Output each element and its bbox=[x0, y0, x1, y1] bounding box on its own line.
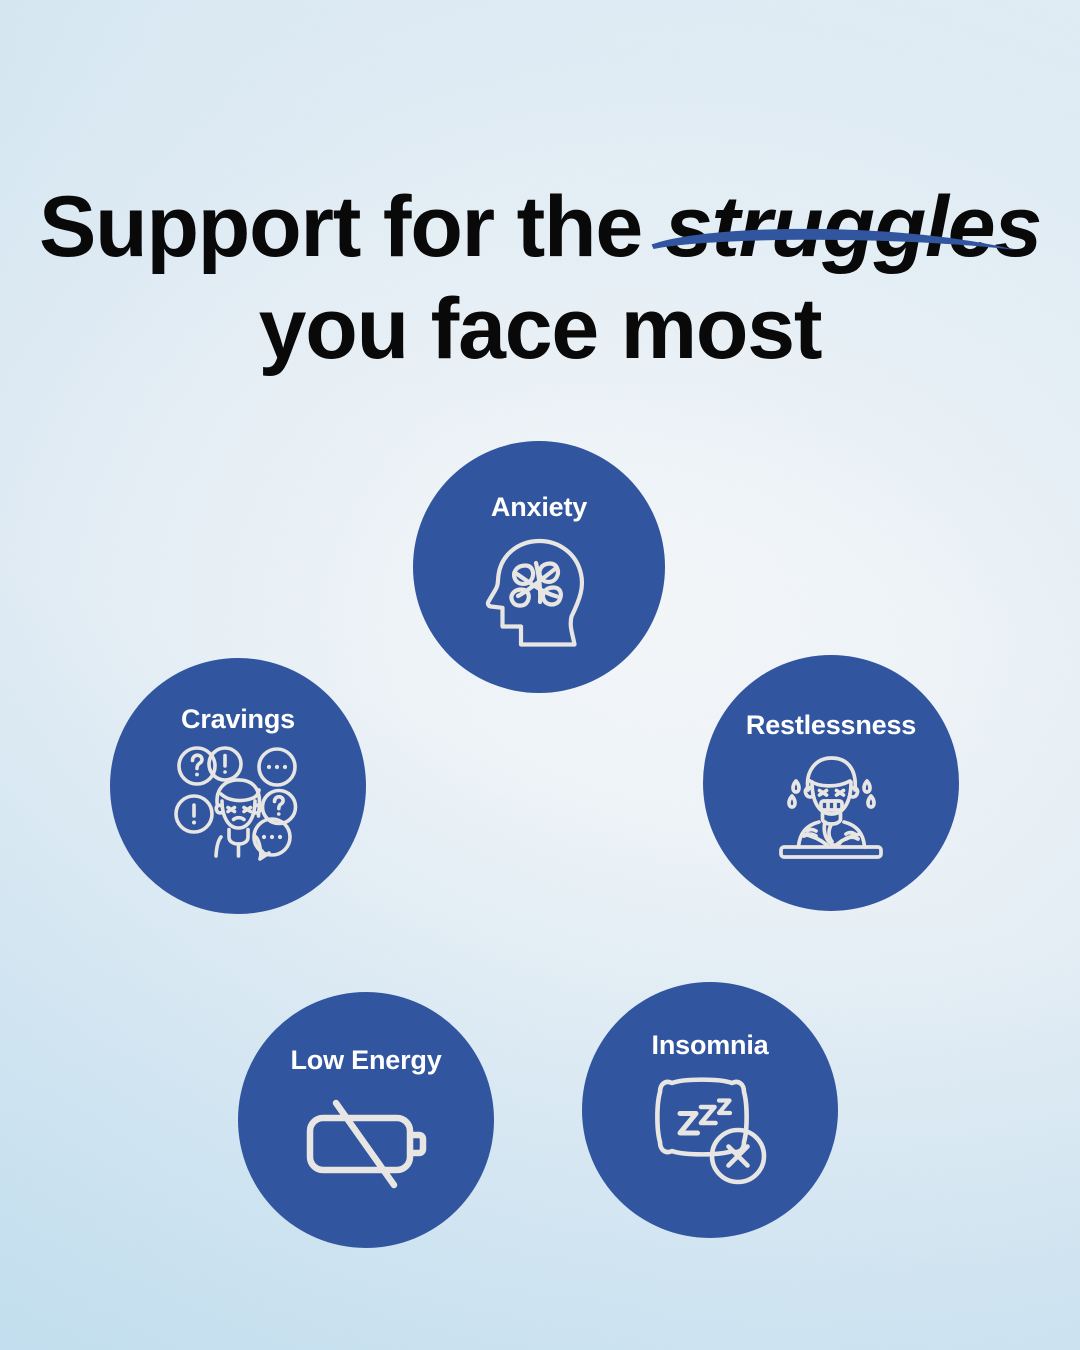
bubble-label-anxiety: Anxiety bbox=[491, 492, 587, 522]
bubble-low-energy[interactable]: Low Energy bbox=[238, 992, 494, 1248]
bubble-restlessness[interactable]: Restlessness bbox=[703, 655, 959, 911]
bubble-label-insomnia: Insomnia bbox=[652, 1030, 769, 1060]
headline-line-1: Support for the struggles bbox=[0, 176, 1080, 278]
bubble-label-cravings: Cravings bbox=[181, 704, 295, 734]
bubble-label-restlessness: Restlessness bbox=[746, 710, 916, 740]
pillow-zzz-no-sleep-icon bbox=[648, 1074, 772, 1186]
head-tangled-thoughts-icon bbox=[485, 532, 593, 648]
empty-battery-slashed-icon bbox=[300, 1095, 432, 1193]
headline-line-1-prefix: Support for the bbox=[39, 179, 665, 275]
page-title: Support for the struggles you face most bbox=[0, 176, 1080, 380]
stressed-person-speech-bubbles-icon bbox=[174, 745, 302, 867]
bubble-anxiety[interactable]: Anxiety bbox=[413, 441, 665, 693]
bubble-insomnia[interactable]: Insomnia bbox=[582, 982, 838, 1238]
bubble-label-low-energy: Low Energy bbox=[290, 1045, 441, 1075]
headline-emphasis-struggles: struggles bbox=[665, 179, 1041, 275]
bubble-cravings[interactable]: Cravings bbox=[110, 658, 366, 914]
headline-line-2: you face most bbox=[0, 278, 1080, 380]
sweating-person-at-desk-icon bbox=[771, 746, 891, 864]
